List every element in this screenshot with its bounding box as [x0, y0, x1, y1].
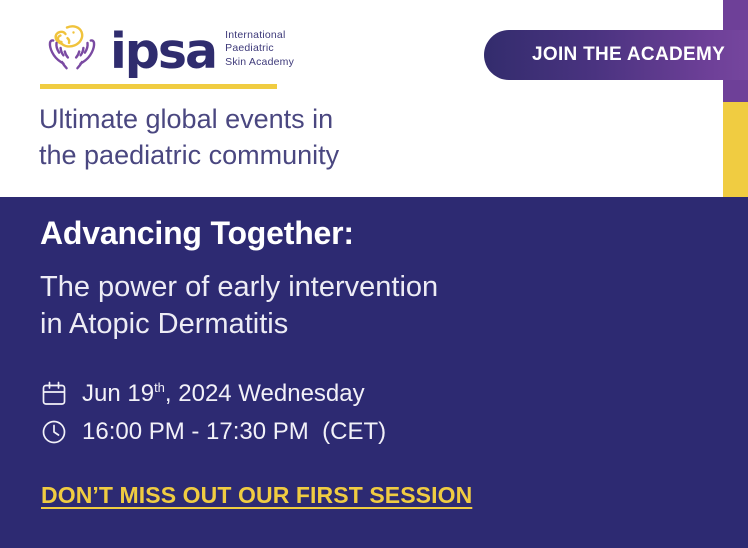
join-the-academy-button[interactable]: JOIN THE ACADEMY — [484, 30, 748, 80]
header: ipsa International Paediatric Skin Acade… — [0, 0, 748, 197]
brand-subtitle-line-3: Skin Academy — [225, 56, 294, 68]
event-date-monthday: Jun 19 — [82, 380, 154, 407]
brand-wordmark: ipsa — [110, 27, 216, 76]
brand-subtitle-line-2: Paediatric — [225, 42, 274, 54]
calendar-icon — [40, 380, 68, 408]
logo-underline-rule — [40, 84, 277, 89]
hands-cradling-baby-icon — [40, 18, 104, 80]
event-date-text: Jun 19th, 2024 Wednesday — [82, 380, 365, 408]
brand-logo[interactable]: ipsa International Paediatric Skin Acade… — [40, 18, 294, 80]
event-time-row: 16:00 PM - 17:30 PM (CET) — [40, 413, 386, 451]
event-date-year-weekday: , 2024 Wednesday — [165, 380, 365, 407]
brand-subtitle-line-1: International — [225, 29, 285, 41]
header-tagline: Ultimate global events in the paediatric… — [39, 101, 339, 173]
event-time-text: 16:00 PM - 17:30 PM (CET) — [82, 418, 386, 446]
event-meta: Jun 19th, 2024 Wednesday 16:00 PM - 17:3… — [40, 375, 386, 451]
event-headline: Advancing Together: — [40, 215, 354, 252]
brand-subtitle: International Paediatric Skin Academy — [225, 29, 294, 70]
event-promo-poster: ipsa International Paediatric Skin Acade… — [0, 0, 748, 548]
event-subheadline: The power of early intervention in Atopi… — [40, 269, 438, 343]
event-date-ordinal: th — [154, 380, 165, 395]
cta-link[interactable]: DON’T MISS OUT OUR FIRST SESSION — [41, 482, 472, 509]
clock-icon — [40, 418, 68, 446]
event-date-row: Jun 19th, 2024 Wednesday — [40, 375, 386, 413]
main-panel: Advancing Together: The power of early i… — [0, 197, 748, 548]
